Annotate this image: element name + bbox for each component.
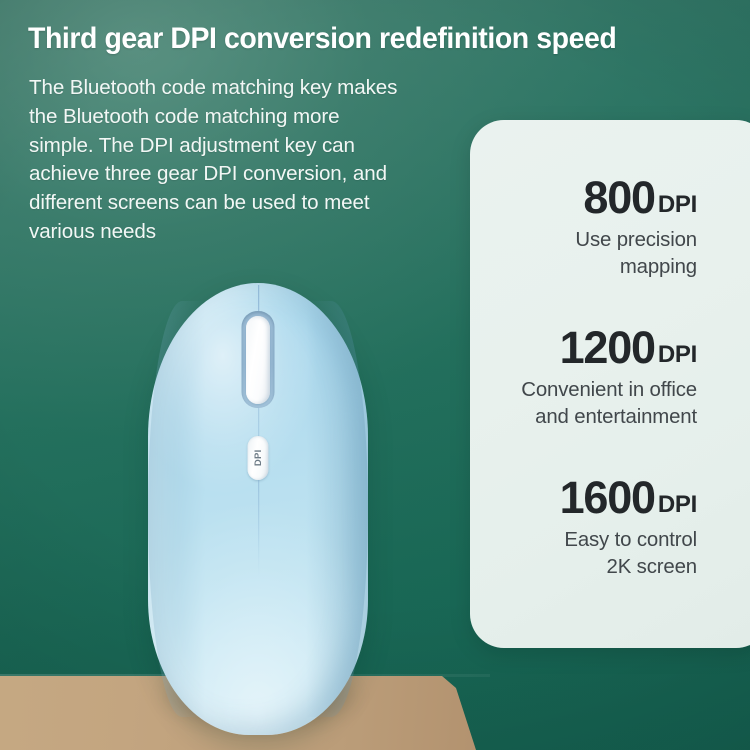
dpi-description-line: Easy to control [470,527,697,554]
dpi-unit: DPI [658,191,697,218]
dpi-description-line: mapping [470,254,697,281]
product-promo-image: Third gear DPI conversion redefinition s… [0,0,750,750]
dpi-description-line: and entertainment [470,404,697,431]
dpi-value: 800 [583,172,654,223]
description-line: different screens can be used to meet [29,189,459,218]
description-line: various needs [29,218,459,247]
dpi-unit: DPI [658,491,697,518]
dpi-button: DPI [248,436,269,480]
dpi-spec-headline: 1600DPI [470,475,697,520]
dpi-value: 1600 [560,472,655,523]
dpi-description-line: Use precision [470,227,697,254]
dpi-description-line: Convenient in office [470,377,697,404]
mouse-lower-seam [258,480,260,576]
scroll-wheel [246,316,270,404]
dpi-description: Convenient in office and entertainment [470,377,697,430]
dpi-spec-item-800: 800DPI Use precision mapping [470,175,697,280]
description-line: simple. The DPI adjustment key can [29,132,459,161]
dpi-spec-headline: 800DPI [470,175,697,220]
description-paragraph: The Bluetooth code matching key makes th… [29,74,459,247]
dpi-spec-headline: 1200DPI [470,325,697,370]
dpi-value: 1200 [560,322,655,373]
description-line: achieve three gear DPI conversion, and [29,160,459,189]
description-line: the Bluetooth code matching more [29,103,459,132]
dpi-spec-item-1600: 1600DPI Easy to control 2K screen [470,475,697,580]
dpi-description: Use precision mapping [470,227,697,280]
dpi-spec-item-1200: 1200DPI Convenient in office and enterta… [470,325,697,430]
dpi-description: Easy to control 2K screen [470,527,697,580]
dpi-spec-panel: 800DPI Use precision mapping 1200DPI Con… [470,120,750,648]
page-title: Third gear DPI conversion redefinition s… [28,22,704,55]
dpi-button-label: DPI [254,450,264,467]
dpi-description-line: 2K screen [470,554,697,581]
dpi-unit: DPI [658,341,697,368]
wireless-mouse-product: DPI [148,283,368,735]
dpi-spec-list: 800DPI Use precision mapping 1200DPI Con… [470,120,697,648]
description-line: The Bluetooth code matching key makes [29,74,459,103]
